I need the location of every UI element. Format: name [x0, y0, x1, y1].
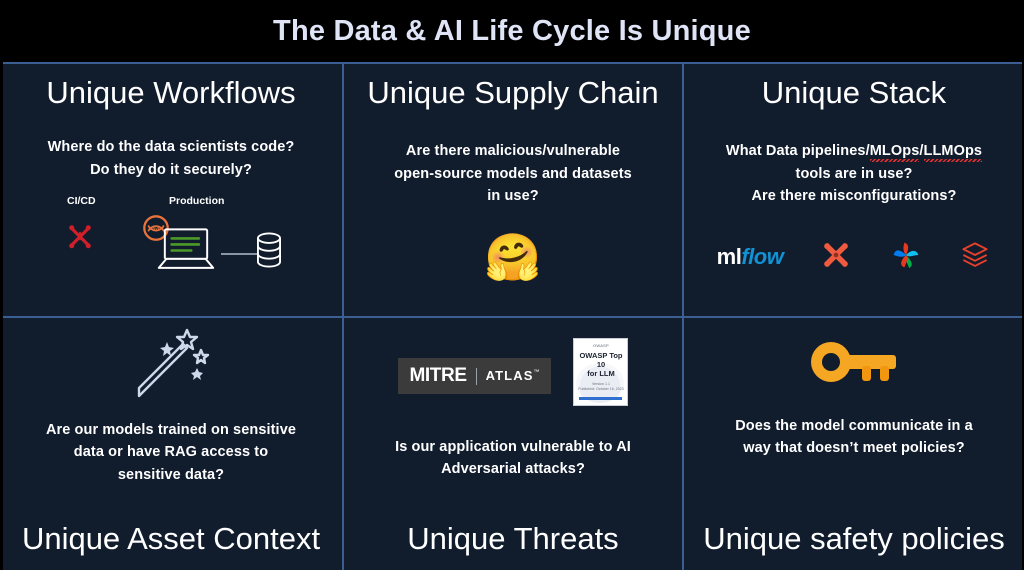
cell-unique-asset-context: Are our models trained on sensitive data…	[0, 316, 342, 570]
workflows-diagram: CI/CD Production	[51, 195, 291, 287]
cicd-x-logo	[65, 221, 95, 256]
label-cicd: CI/CD	[67, 195, 96, 207]
owasp-doc-title: OWASP Top 10 for LLM	[574, 351, 627, 378]
cell-heading-threats: Unique Threats	[407, 522, 618, 556]
stack-question-line-1: What Data pipelines/MLOps/LLMOps	[726, 140, 982, 162]
stack-logo-row: mlflow	[717, 238, 992, 277]
asset-context-question-line-1: Are our models trained on sensitive	[46, 419, 296, 441]
misspelled-mlops: MLOps	[870, 143, 920, 159]
database-icon	[254, 231, 284, 274]
page-title: The Data & AI Life Cycle Is Unique	[273, 15, 751, 48]
slide-title-bar: The Data & AI Life Cycle Is Unique	[0, 0, 1024, 62]
mlflow-logo-ml: ml	[717, 244, 742, 269]
cell-heading-workflows: Unique Workflows	[46, 76, 295, 110]
cell-heading-supply-chain: Unique Supply Chain	[367, 76, 658, 110]
workflows-question-line-1: Where do the data scientists code?	[48, 136, 295, 158]
kubeflow-logo	[819, 238, 853, 277]
threats-question-line-1: Is our application vulnerable to AI	[395, 436, 631, 458]
cell-question-asset-context: Are our models trained on sensitive data…	[46, 419, 296, 486]
trademark-symbol: ™	[533, 370, 539, 376]
workflows-question-line-2: Do they do it securely?	[48, 159, 295, 181]
cell-unique-threats: MITRE ATLAS™ OWASP OWASP Top 10 for LLM …	[342, 316, 682, 570]
cell-heading-asset-context: Unique Asset Context	[22, 522, 320, 556]
cell-unique-supply-chain: Unique Supply Chain Are there malicious/…	[342, 62, 682, 316]
databricks-logo	[959, 239, 991, 276]
cell-heading-safety-policies: Unique safety policies	[703, 522, 1005, 556]
cell-heading-stack: Unique Stack	[762, 76, 946, 110]
hugging-face-emoji: 🤗	[484, 234, 541, 280]
supply-chain-question-line-2: open-source models and datasets	[394, 163, 632, 185]
owasp-doc-title-line-2: for LLM	[574, 369, 627, 378]
owasp-doc-subtitle-line-2: Published: October 16, 2023	[578, 387, 624, 392]
atlas-wordmark-group: ATLAS™	[486, 367, 540, 385]
owasp-doc-subtitle: Version 1.1 Published: October 16, 2023	[578, 382, 624, 393]
cell-question-workflows: Where do the data scientists code? Do th…	[48, 136, 295, 181]
mlflow-logo: mlflow	[717, 246, 784, 268]
lifecycle-grid: Unique Workflows Where do the data scien…	[0, 62, 1024, 570]
threats-question-line-2: Adversarial attacks?	[395, 458, 631, 480]
apache-airflow-logo	[889, 238, 923, 277]
cell-question-supply-chain: Are there malicious/vulnerable open-sour…	[394, 140, 632, 207]
owasp-brand-mark: OWASP	[593, 343, 609, 348]
mitre-wordmark: MITRE	[410, 365, 467, 387]
mitre-atlas-logo: MITRE ATLAS™	[398, 358, 552, 394]
supply-chain-question-line-1: Are there malicious/vulnerable	[394, 140, 632, 162]
safety-question-line-1: Does the model communicate in a	[735, 415, 973, 437]
owasp-doc-title-line-1: OWASP Top 10	[574, 351, 627, 369]
stack-question-prefix: What Data pipelines/	[726, 143, 870, 159]
cell-question-stack: What Data pipelines/MLOps/LLMOps tools a…	[726, 140, 982, 207]
stack-question-slash: /	[919, 143, 923, 159]
atlas-wordmark: ATLAS	[486, 368, 534, 383]
owasp-doc-footer-bar	[579, 397, 622, 400]
left-edge-strip	[0, 62, 3, 570]
asset-context-question-line-3: sensitive data?	[46, 464, 296, 486]
cell-unique-safety-policies: Does the model communicate in a way that…	[682, 316, 1024, 570]
supply-chain-question-line-3: in use?	[394, 185, 632, 207]
stack-question-line-2: tools are in use?	[726, 163, 982, 185]
owasp-top-10-for-llm-document: OWASP OWASP Top 10 for LLM Version 1.1 P…	[573, 338, 628, 406]
cell-question-threats: Is our application vulnerable to AI Adve…	[395, 436, 631, 481]
cell-unique-workflows: Unique Workflows Where do the data scien…	[0, 62, 342, 316]
key-icon	[804, 338, 904, 391]
stack-question-line-3: Are there misconfigurations?	[726, 185, 982, 207]
label-production: Production	[169, 195, 224, 207]
laptop-icon	[155, 225, 217, 278]
cell-question-safety-policies: Does the model communicate in a way that…	[735, 415, 973, 460]
misspelled-llmops: LLMOps	[924, 143, 983, 159]
safety-question-line-2: way that doesn’t meet policies?	[735, 437, 973, 459]
mlflow-logo-flow: flow	[741, 244, 783, 269]
cell-unique-stack: Unique Stack What Data pipelines/MLOps/L…	[682, 62, 1024, 316]
mitre-atlas-divider	[476, 368, 477, 385]
asset-context-question-line-2: data or have RAG access to	[46, 441, 296, 463]
threats-logo-row: MITRE ATLAS™ OWASP OWASP Top 10 for LLM …	[398, 338, 629, 406]
slide-root: The Data & AI Life Cycle Is Unique Uniqu…	[0, 0, 1024, 570]
magic-wand-icon	[125, 326, 217, 409]
